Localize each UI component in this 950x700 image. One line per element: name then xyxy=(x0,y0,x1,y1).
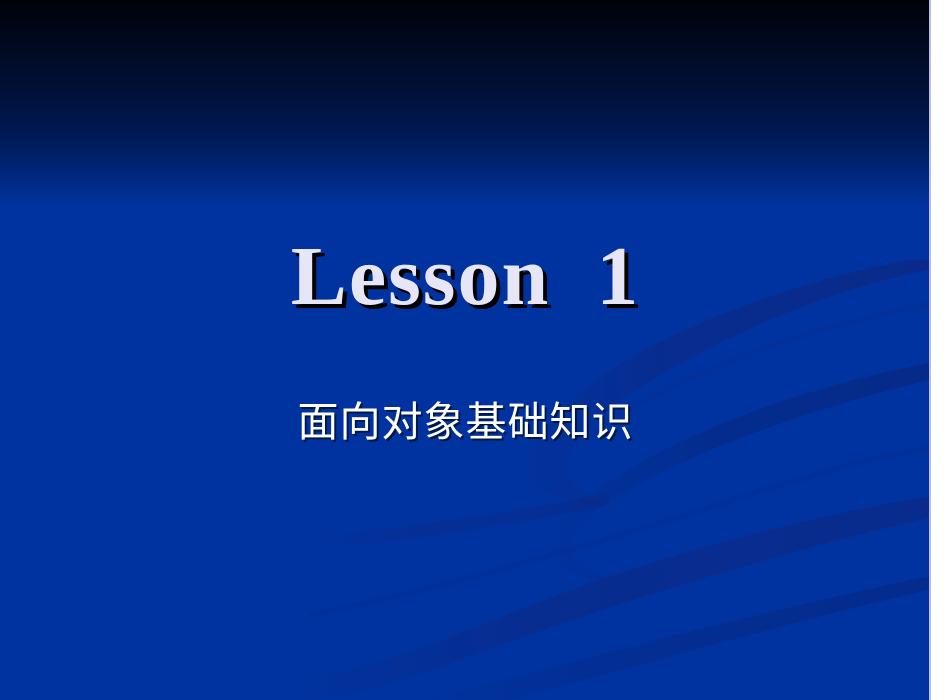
page-right-margin xyxy=(933,0,950,700)
presentation-slide-screen: Lesson 1 面向对象基础知识 xyxy=(0,0,950,700)
slide-subtitle: 面向对象基础知识 xyxy=(298,396,634,448)
slide-background-gradient xyxy=(0,0,929,700)
slide-canvas: Lesson 1 面向对象基础知识 xyxy=(0,0,931,700)
slide-title-block: Lesson 1 xyxy=(0,231,931,323)
slide-title: Lesson 1 xyxy=(291,231,640,323)
slide-subtitle-block: 面向对象基础知识 xyxy=(0,396,931,448)
